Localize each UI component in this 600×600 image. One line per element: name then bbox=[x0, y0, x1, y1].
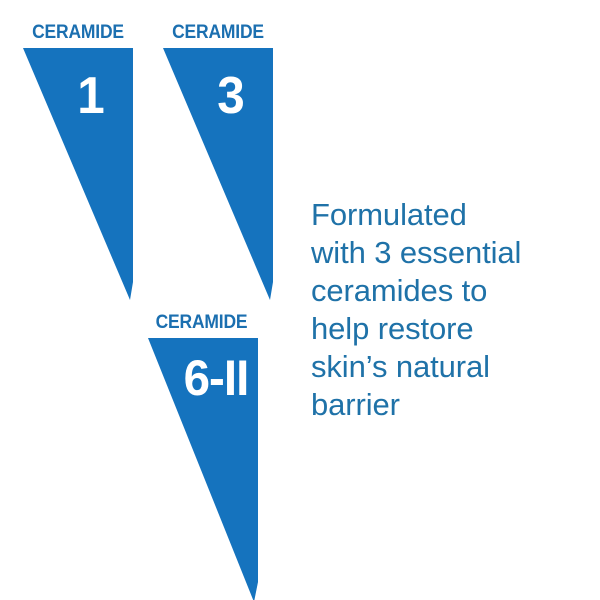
ceramide-number-1: 1 bbox=[62, 70, 121, 122]
promo-graphic-canvas: CERAMIDE 1 CERAMIDE 3 CERAMIDE 6-II Form… bbox=[0, 0, 600, 600]
ceramide-badge-1: CERAMIDE 1 bbox=[0, 0, 150, 310]
ceramide-badge-2: CERAMIDE 3 bbox=[140, 0, 290, 310]
tagline-line: barrier bbox=[311, 386, 589, 424]
ceramide-number-2: 3 bbox=[202, 70, 261, 122]
tagline-text: Formulated with 3 essential ceramides to… bbox=[311, 196, 589, 424]
ceramide-wedge-icon-2 bbox=[140, 0, 290, 310]
ceramide-number-3: 6-II bbox=[169, 353, 264, 403]
tagline-line: help restore bbox=[311, 310, 589, 348]
ceramide-wedge-icon-1 bbox=[0, 0, 150, 310]
tagline-line: skin’s natural bbox=[311, 348, 589, 386]
ceramide-badge-3: CERAMIDE 6-II bbox=[126, 290, 276, 600]
tagline-line: ceramides to bbox=[311, 272, 589, 310]
ceramide-wedge-icon-3 bbox=[126, 290, 276, 600]
tagline-line: Formulated bbox=[311, 196, 589, 234]
tagline-line: with 3 essential bbox=[311, 234, 589, 272]
